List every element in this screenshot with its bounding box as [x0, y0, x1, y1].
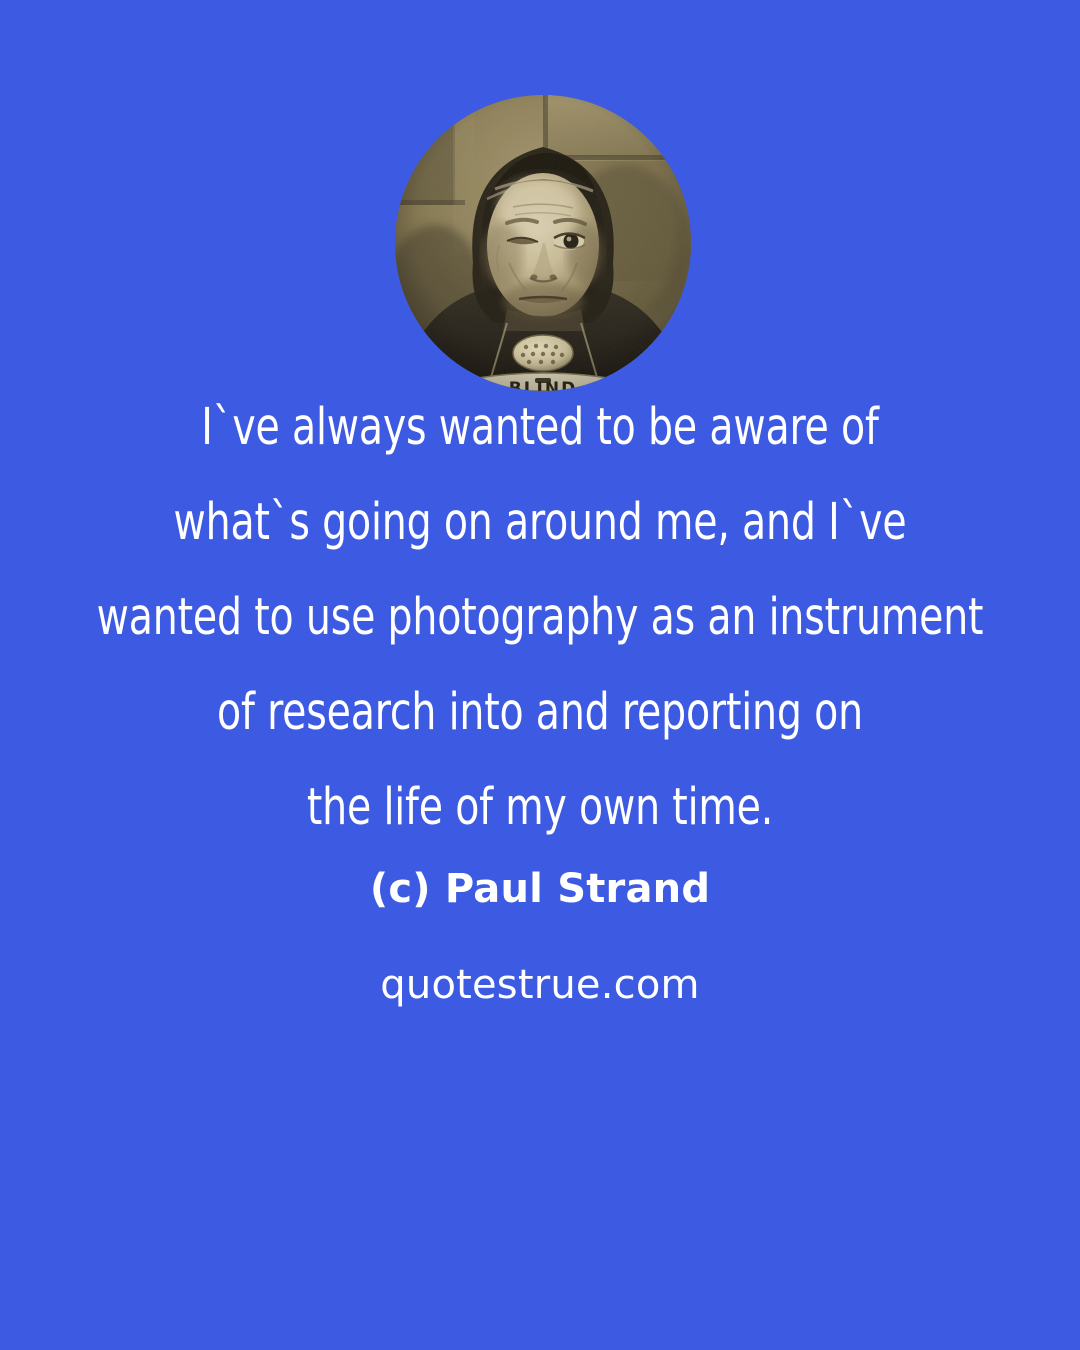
quote-card: BLIND I`ve always wanted to be aware of …	[0, 0, 1080, 1350]
quote-line: the life of my own time.	[76, 760, 1005, 855]
portrait-artwork: BLIND	[395, 95, 691, 391]
quote-line: I`ve always wanted to be aware of	[76, 380, 1005, 475]
quote-text: I`ve always wanted to be aware of what`s…	[76, 380, 1005, 855]
site-watermark: quotestrue.com	[0, 962, 1080, 1008]
quote-line: of research into and reporting on	[76, 665, 1005, 760]
quote-attribution: (c) Paul Strand	[0, 866, 1080, 912]
quote-line: what`s going on around me, and I`ve	[76, 475, 1005, 570]
quote-line: wanted to use photography as an instrume…	[76, 570, 1005, 665]
blind-woman-portrait-icon: BLIND	[395, 95, 691, 391]
